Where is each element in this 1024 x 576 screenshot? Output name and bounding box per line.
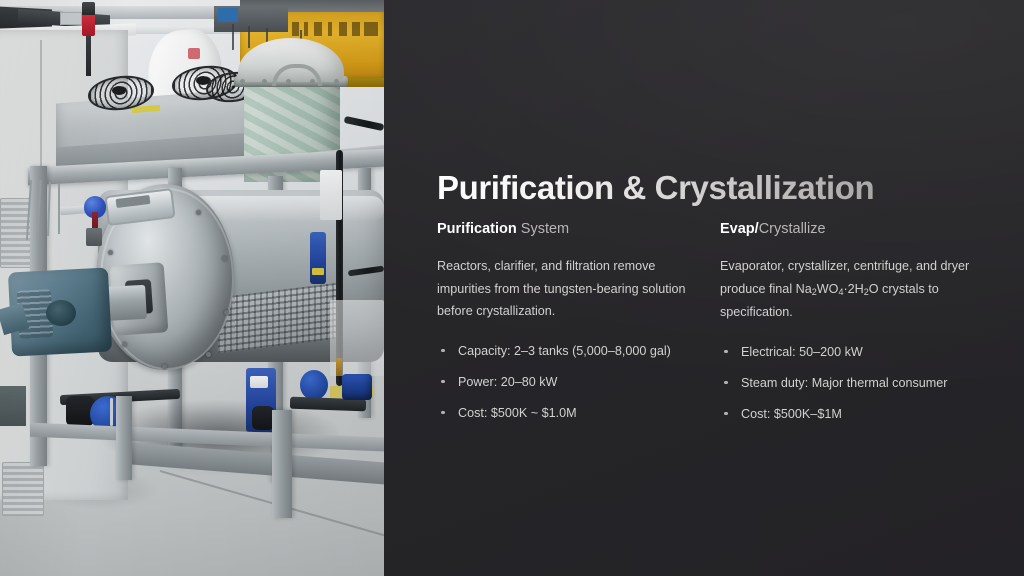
column-heading-evap-crystallize: Evap/Crystallize — [720, 219, 970, 239]
photo-vessel-bolt-2 — [262, 79, 267, 84]
bullet-list-purification: Capacity: 2–3 tanks (5,000–8,000 gal) Po… — [437, 340, 687, 424]
formula-part: Na — [796, 282, 812, 296]
content-panel: Purification & Crystallization Purificat… — [384, 0, 1024, 576]
photo-vessel-head-stud-8 — [222, 256, 227, 261]
photo-vessel-head-stud-5 — [162, 364, 167, 369]
photo-crane-cable — [232, 24, 234, 50]
column-heading-strong: Purification — [437, 221, 517, 237]
bullet-list-evap-crystallize: Electrical: 50–200 kW Steam duty: Major … — [720, 341, 970, 425]
formula-subscript: 4 — [838, 287, 843, 297]
chemical-formula: Na2WO4·2H2O — [796, 282, 879, 296]
formula-part: WO — [817, 282, 839, 296]
column-purification: Purification System Reactors, clarifier,… — [437, 219, 687, 433]
photo-skid-label — [250, 376, 268, 388]
photo-white-machine-label — [188, 48, 200, 59]
photo-pump-right — [300, 370, 328, 400]
photo-vessel-bolt-1 — [240, 79, 245, 84]
formula-part: ·2H — [843, 282, 863, 296]
photo-vessel-head-stud-6 — [206, 352, 211, 357]
photo-vessel-head-stud-7 — [224, 310, 229, 315]
photo-gearmotor-port — [46, 300, 76, 326]
photo-white-panel-right — [320, 170, 342, 220]
list-item: Steam duty: Major thermal consumer — [720, 372, 970, 394]
photo-wire-4 — [58, 184, 60, 234]
list-item: Cost: $500K ~ $1.0M — [437, 402, 687, 424]
column-heading-strong: Evap/ — [720, 221, 759, 237]
photo-vessel-bolt-5 — [334, 79, 339, 84]
photo-cabinet-dark-panel — [0, 386, 26, 426]
photo-pump-far-right — [342, 374, 372, 400]
photo-stack-light-red — [82, 14, 95, 36]
formula-subscript: 2 — [812, 287, 817, 297]
formula-part: O — [869, 282, 879, 296]
photo-frame-leg-front-right — [272, 410, 292, 518]
column-heading-light: Crystallize — [759, 221, 826, 237]
photo-brass-fitting — [336, 358, 342, 376]
photo-blue-instrument — [310, 232, 326, 284]
column-description-purification: Reactors, clarifier, and filtration remo… — [437, 255, 687, 323]
column-evap-crystallize: Evap/Crystallize Evaporator, crystallize… — [720, 219, 970, 434]
photo-valve-body — [86, 228, 102, 246]
photo-cabinet-vent-lower — [2, 462, 44, 516]
photo-vessel-head-stud-2 — [108, 250, 113, 255]
list-item: Cost: $500K–$1M — [720, 403, 970, 425]
list-item: Electrical: 50–200 kW — [720, 341, 970, 363]
photo-vessel-head-stud-9 — [196, 210, 201, 215]
photo-crane-cable-2 — [248, 26, 250, 48]
photo-vessel-bolt-4 — [310, 79, 315, 84]
column-description-evap-crystallize: Evaporator, crystallizer, centrifuge, an… — [720, 255, 970, 324]
photo-yellow-tag — [312, 268, 324, 275]
slide-root: Purification & Crystallization Purificat… — [0, 0, 1024, 576]
photo-frame-leg-front-left — [116, 396, 132, 480]
formula-subscript: 2 — [864, 287, 869, 297]
photo-wall-plate — [60, 12, 82, 25]
column-heading-light: System — [517, 221, 569, 237]
photo-crane-hoist-blue-block — [218, 8, 238, 22]
page-title: Purification & Crystallization — [437, 168, 874, 208]
photo-crane-marking — [292, 22, 378, 36]
list-item: Capacity: 2–3 tanks (5,000–8,000 gal) — [437, 340, 687, 362]
column-heading-purification: Purification System — [437, 219, 687, 239]
list-item: Power: 20–80 kW — [437, 371, 687, 393]
photo-stack-light-top — [82, 2, 95, 15]
equipment-photo — [0, 0, 384, 576]
photo-pump-motor-right — [252, 406, 274, 430]
photo-vessel-bolt-3 — [286, 79, 291, 84]
photo-vessel-head-stud-4 — [122, 342, 127, 347]
photo-pump-left-conduit — [110, 398, 113, 426]
photo-fan-hub-1 — [112, 86, 126, 95]
